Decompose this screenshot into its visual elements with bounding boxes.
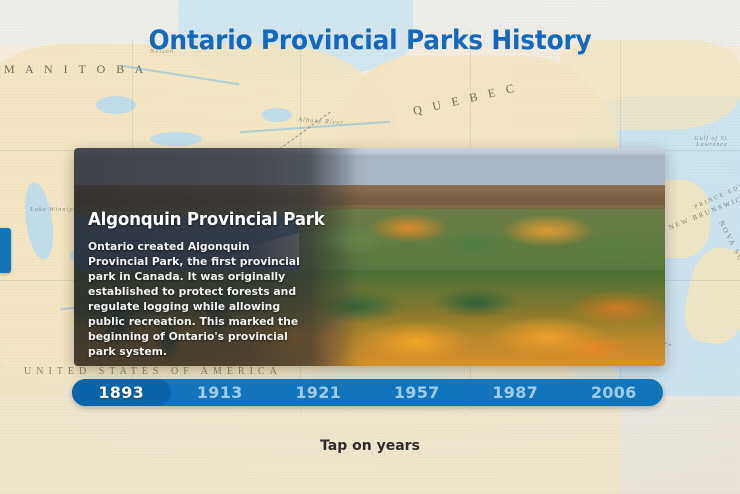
map-label-nova-scotia: NOVA SCOTIA xyxy=(717,219,740,286)
map-label-manitoba: M A N I T O B A xyxy=(4,62,147,77)
map-label-albany-river: Albany River xyxy=(298,116,345,126)
map-lake-a xyxy=(96,96,136,114)
card-text-block: Algonquin Provincial Park Ontario create… xyxy=(88,210,320,359)
timeline-bar[interactable]: 1893 1913 1921 1957 1987 2006 xyxy=(72,379,663,406)
timeline-year-1893[interactable]: 1893 xyxy=(72,379,171,406)
map-land-nova-scotia xyxy=(679,243,740,350)
map-label-gulf-of-st-lawrence: Gulf of St. Lawrence xyxy=(690,136,734,148)
tap-hint-text: Tap on years xyxy=(0,438,740,454)
infographic-stage: M A N I T O B A Q U E B E C Nelson Alban… xyxy=(0,0,740,494)
map-river-2 xyxy=(240,121,390,133)
timeline-year-2006[interactable]: 2006 xyxy=(565,379,664,406)
map-label-prince-edward-island: PRINCE EDWARD ISLAND xyxy=(694,159,740,210)
timeline-year-1913[interactable]: 1913 xyxy=(171,379,270,406)
map-label-quebec: Q U E B E C xyxy=(412,80,520,119)
map-label-united-states: UNITED STATES OF AMERICA xyxy=(24,366,282,377)
map-lake-e xyxy=(262,108,292,122)
timeline-year-1921[interactable]: 1921 xyxy=(269,379,368,406)
timeline-year-1957[interactable]: 1957 xyxy=(368,379,467,406)
card-title: Algonquin Provincial Park xyxy=(88,210,308,230)
timeline-year-1987[interactable]: 1987 xyxy=(466,379,565,406)
map-lake-b xyxy=(150,132,202,146)
card-description: Ontario created Algonquin Provincial Par… xyxy=(88,239,312,359)
map-river-1 xyxy=(121,65,240,86)
map-label-new-brunswick: NEW BRUNSWICK xyxy=(668,192,740,231)
map-lake-winnipeg xyxy=(21,181,58,262)
map-land-usa xyxy=(0,352,620,494)
side-handle-tab[interactable] xyxy=(0,228,11,273)
page-title: Ontario Provincial Parks History xyxy=(30,25,711,56)
